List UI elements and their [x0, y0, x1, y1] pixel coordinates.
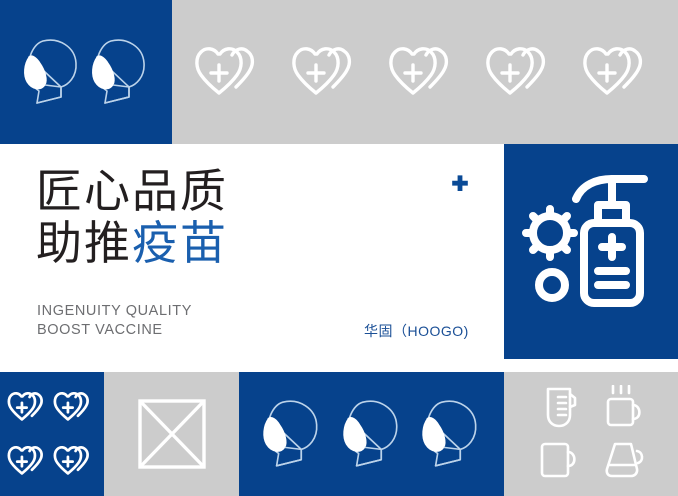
top-heart-row	[172, 0, 678, 144]
double-heart-plus-icon	[6, 444, 52, 478]
brand-name: 华固（HOOGO)	[364, 321, 469, 341]
kettle-icon	[601, 439, 647, 481]
virus-germ-icon	[526, 209, 574, 257]
masked-face-icon	[89, 35, 151, 109]
image-placeholder-x-icon	[136, 398, 208, 470]
double-heart-plus-icon	[52, 390, 98, 424]
double-heart-plus-icon	[192, 44, 270, 100]
bottom-placeholder-wrap	[104, 372, 239, 496]
steaming-mug-icon	[602, 385, 646, 431]
subtitle-line-1: INGENUITY QUALITY	[37, 302, 192, 321]
double-heart-plus-icon	[483, 44, 561, 100]
masked-face-icon	[419, 396, 483, 472]
mug-icon	[537, 439, 581, 481]
double-heart-plus-icon	[580, 44, 658, 100]
headline-line-2-accent: 疫苗	[132, 217, 228, 269]
sanitizer-illustration	[504, 144, 678, 359]
bottom-mask-row	[239, 372, 504, 496]
double-heart-plus-icon	[386, 44, 464, 100]
measuring-beaker-icon	[539, 385, 579, 431]
masked-face-icon	[260, 396, 324, 472]
headline-line-2: 助推疫苗	[36, 217, 366, 269]
hand-sanitizer-bottle-icon	[576, 179, 644, 303]
double-heart-plus-icon	[52, 444, 98, 478]
headline-line-1: 匠心品质	[36, 165, 366, 217]
top-mask-row	[0, 0, 172, 144]
subtitle-block: INGENUITY QUALITY BOOST VACCINE	[37, 302, 192, 340]
plus-icon	[450, 174, 470, 194]
headline-block: 匠心品质 助推疫苗	[36, 165, 366, 269]
poster-canvas: 匠心品质 助推疫苗 INGENUITY QUALITY BOOST VACCIN…	[0, 0, 678, 496]
double-heart-plus-icon	[6, 390, 52, 424]
bottom-heart-grid	[0, 372, 104, 496]
double-heart-plus-icon	[289, 44, 367, 100]
bottom-vessel-grid	[504, 372, 678, 496]
headline-line-2-black: 助推	[36, 217, 132, 269]
masked-face-icon	[340, 396, 404, 472]
small-ring-icon	[539, 272, 565, 298]
masked-face-icon	[21, 35, 83, 109]
subtitle-line-2: BOOST VACCINE	[37, 321, 192, 340]
